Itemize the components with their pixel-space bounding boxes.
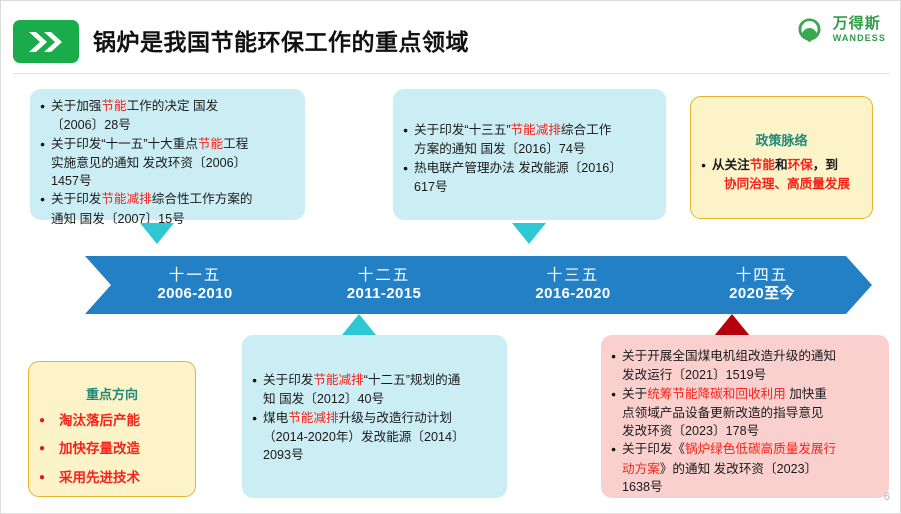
list-item: 煤电节能减排升级与改造行动计划 xyxy=(252,409,497,427)
list-item: 关于印发“十一五”十大重点节能工程 xyxy=(40,135,295,153)
connector-13th-icon xyxy=(512,223,546,244)
list-item: 关于印发“十三五”节能减排综合工作 xyxy=(403,121,656,139)
header-divider xyxy=(13,73,890,74)
list-item: 采用先进技术 xyxy=(39,468,185,488)
list-item-cont: 协同治理、高质量发展 xyxy=(701,175,862,193)
list-item-cont: 实施意见的通知 发改环资〔2006〕 xyxy=(40,154,295,172)
list-item-cont: 动方案》的通知 发改环资〔2023〕 xyxy=(611,460,879,478)
list-item: 关于印发节能减排综合性工作方案的 xyxy=(40,190,295,208)
logo-text-en: WANDESS xyxy=(833,34,886,43)
list-item-cont: 发改环资〔2023〕178号 xyxy=(611,422,879,440)
focus-heading: 重点方向 xyxy=(39,386,185,405)
list-item-cont: 1638号 xyxy=(611,478,879,496)
list-item-cont: 知 国发〔2012〕40号 xyxy=(252,390,497,408)
phase-label-cn: 十一五 xyxy=(169,267,222,285)
logo-text-cn: 万得斯 xyxy=(833,16,886,31)
list-item: 从关注节能和环保，到 xyxy=(701,156,862,174)
timeline-phase-13th[interactable]: 十三五 2016-2020 xyxy=(463,256,683,314)
callout-12th-five-year: 关于印发节能减排“十二五”规划的通 知 国发〔2012〕40号 煤电节能减排升级… xyxy=(242,335,507,498)
callout-14th-five-year: 关于开展全国煤电机组改造升级的通知 发改运行〔2021〕1519号 关于统筹节能… xyxy=(601,335,889,498)
list-item-cont: 617号 xyxy=(403,178,656,196)
callout-focus-directions: 重点方向 淘汰落后产能 加快存量改造 采用先进技术 xyxy=(28,361,196,497)
list-item-cont: 方案的通知 国发〔2016〕74号 xyxy=(403,140,656,158)
list-item: 关于印发节能减排“十二五”规划的通 xyxy=(252,371,497,389)
list-item: 关于统筹节能降碳和回收利用 加快重 xyxy=(611,385,879,403)
timeline-phase-14th[interactable]: 十四五 2020至今 xyxy=(652,256,872,314)
policy-context-heading: 政策脉络 xyxy=(701,132,862,151)
phase-label-years: 2011-2015 xyxy=(347,285,422,303)
phase-label-cn: 十二五 xyxy=(358,267,411,285)
list-item-cont: （2014-2020年）发改能源〔2014〕 xyxy=(252,428,497,446)
wandess-leaf-logo-icon xyxy=(793,13,826,46)
timeline-phase-11th[interactable]: 十一五 2006-2010 xyxy=(85,256,305,314)
callout-13th-five-year: 关于印发“十三五”节能减排综合工作 方案的通知 国发〔2016〕74号 热电联产… xyxy=(393,89,666,220)
timeline-phase-12th[interactable]: 十二五 2011-2015 xyxy=(274,256,494,314)
page-number: 6 xyxy=(884,491,890,503)
brand-logo: 万得斯 WANDESS xyxy=(793,13,886,46)
list-item: 关于开展全国煤电机组改造升级的通知 xyxy=(611,347,879,365)
list-item: 淘汰落后产能 xyxy=(39,411,185,431)
list-item-cont: 1457号 xyxy=(40,172,295,190)
list-item-cont: 发改运行〔2021〕1519号 xyxy=(611,366,879,384)
header-badge xyxy=(13,20,79,63)
connector-11th-icon xyxy=(140,223,174,244)
connector-12th-icon xyxy=(342,314,376,335)
page-title: 锅炉是我国节能环保工作的重点领域 xyxy=(93,23,469,57)
list-item: 加快存量改造 xyxy=(39,439,185,459)
list-item: 热电联产管理办法 发改能源〔2016〕 xyxy=(403,159,656,177)
double-chevron-right-icon xyxy=(27,31,65,53)
phase-label-cn: 十三五 xyxy=(547,267,600,285)
callout-policy-context: 政策脉络 从关注节能和环保，到 协同治理、高质量发展 xyxy=(690,96,873,219)
list-item: 关于印发《锅炉绿色低碳高质量发展行 xyxy=(611,440,879,458)
list-item-cont: 点领域产品设备更新改造的指导意见 xyxy=(611,404,879,422)
phase-label-years: 2006-2010 xyxy=(157,285,232,303)
phase-label-years: 2020至今 xyxy=(729,285,795,303)
callout-11th-five-year: 关于加强节能工作的决定 国发 〔2006〕28号 关于印发“十一五”十大重点节能… xyxy=(30,89,305,220)
list-item-cont: 〔2006〕28号 xyxy=(40,116,295,134)
connector-14th-icon xyxy=(714,314,750,336)
list-item-cont: 2093号 xyxy=(252,446,497,464)
slide-canvas: 锅炉是我国节能环保工作的重点领域 万得斯 WANDESS 关于加强节能工作的决定… xyxy=(0,0,901,514)
list-item: 关于加强节能工作的决定 国发 xyxy=(40,97,295,115)
phase-label-years: 2016-2020 xyxy=(535,285,610,303)
phase-label-cn: 十四五 xyxy=(736,267,789,285)
